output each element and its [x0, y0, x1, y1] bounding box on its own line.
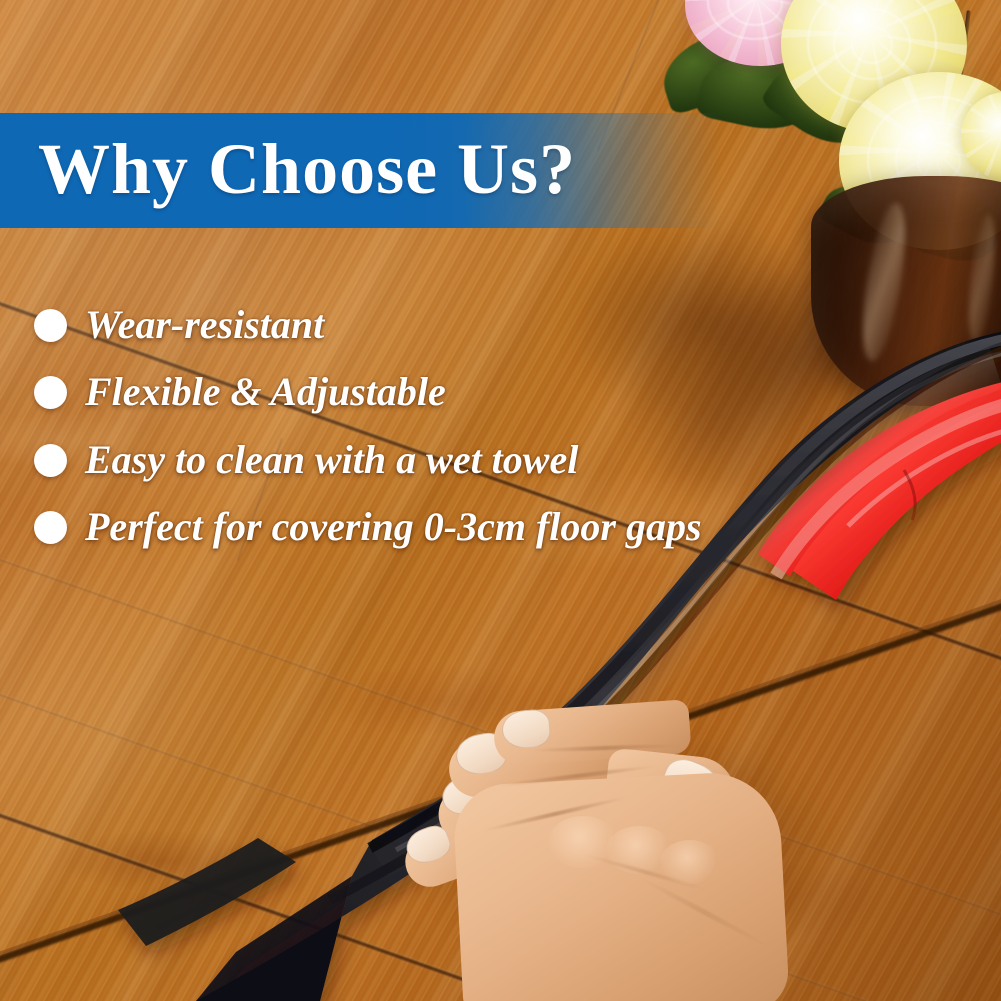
page-title: Why Choose Us? — [38, 126, 576, 212]
bullet-dot-icon — [34, 511, 67, 544]
product-infographic: Why Choose Us? Wear-resistant Flexible &… — [0, 0, 1001, 1001]
bullet-dot-icon — [34, 444, 67, 477]
list-item: Easy to clean with a wet towel — [34, 436, 578, 484]
feature-label: Flexible & Adjustable — [85, 370, 446, 414]
feature-label: Easy to clean with a wet towel — [85, 438, 578, 482]
hand-pressing-strip — [430, 700, 910, 1001]
back-of-hand — [452, 770, 790, 1001]
list-item: Wear-resistant — [34, 301, 324, 349]
bullet-dot-icon — [34, 376, 67, 409]
feature-label: Perfect for covering 0-3cm floor gaps — [85, 505, 702, 549]
bullet-dot-icon — [34, 309, 67, 342]
black-strip-tail — [118, 838, 296, 946]
feature-label: Wear-resistant — [85, 303, 324, 347]
list-item: Flexible & Adjustable — [34, 368, 446, 416]
list-item: Perfect for covering 0-3cm floor gaps — [34, 503, 702, 551]
